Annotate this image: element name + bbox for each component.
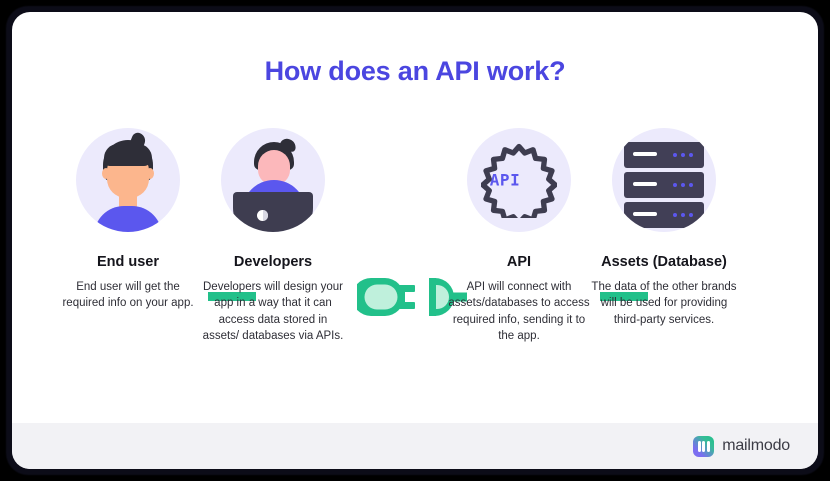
server-dots xyxy=(673,213,695,217)
assets-title: Assets (Database) xyxy=(584,254,744,270)
developer-laptop xyxy=(233,192,313,232)
server-indicator-bar xyxy=(633,212,657,216)
end-user-description: End user will get the required info on y… xyxy=(48,279,208,312)
server-unit-3 xyxy=(624,202,704,228)
api-gear-icon: API xyxy=(467,128,571,232)
end-user-title: End user xyxy=(48,254,208,270)
flow-node-end-user: End user End user will get the required … xyxy=(48,128,208,312)
flow-node-api: API API API will connect with assets/dat… xyxy=(439,128,599,344)
server-unit-2 xyxy=(624,172,704,198)
laptop-logo xyxy=(257,210,268,221)
developers-description: Developers will design your app in a way… xyxy=(193,279,353,344)
api-icon-wrap: API xyxy=(467,128,571,232)
mailmodo-wordmark: mailmodo xyxy=(722,437,790,455)
avatar-shirt xyxy=(94,206,162,232)
footer-bar: mailmodo xyxy=(12,423,818,469)
api-title: API xyxy=(439,254,599,270)
flow-node-developers: Developers Developers will design your a… xyxy=(193,128,353,344)
flow-node-assets-database: Assets (Database) The data of the other … xyxy=(584,128,744,328)
infographic-canvas: How does an API work? xyxy=(0,0,830,481)
assets-icon-wrap xyxy=(612,128,716,232)
server-indicator-bar xyxy=(633,152,657,156)
server-dots xyxy=(673,183,695,187)
end-user-icon-wrap xyxy=(76,128,180,232)
developer-laptop-icon xyxy=(221,128,325,232)
api-flow-diagram: End user End user will get the required … xyxy=(12,128,818,388)
server-stack-icon xyxy=(612,128,716,232)
assets-description: The data of the other brands will be use… xyxy=(584,279,744,328)
developers-icon-wrap xyxy=(221,128,325,232)
api-description: API will connect with assets/databases t… xyxy=(439,279,599,344)
avatar-fringe xyxy=(104,144,152,166)
server-indicator-bar xyxy=(633,182,657,186)
server-unit-1 xyxy=(624,142,704,168)
server-dots xyxy=(673,153,695,157)
page-title: How does an API work? xyxy=(12,56,818,87)
user-avatar-icon xyxy=(76,128,180,232)
developers-title: Developers xyxy=(193,254,353,270)
mailmodo-logo-icon xyxy=(693,436,714,457)
infographic-card: How does an API work? xyxy=(12,12,818,469)
api-gear-label: API xyxy=(467,171,543,190)
